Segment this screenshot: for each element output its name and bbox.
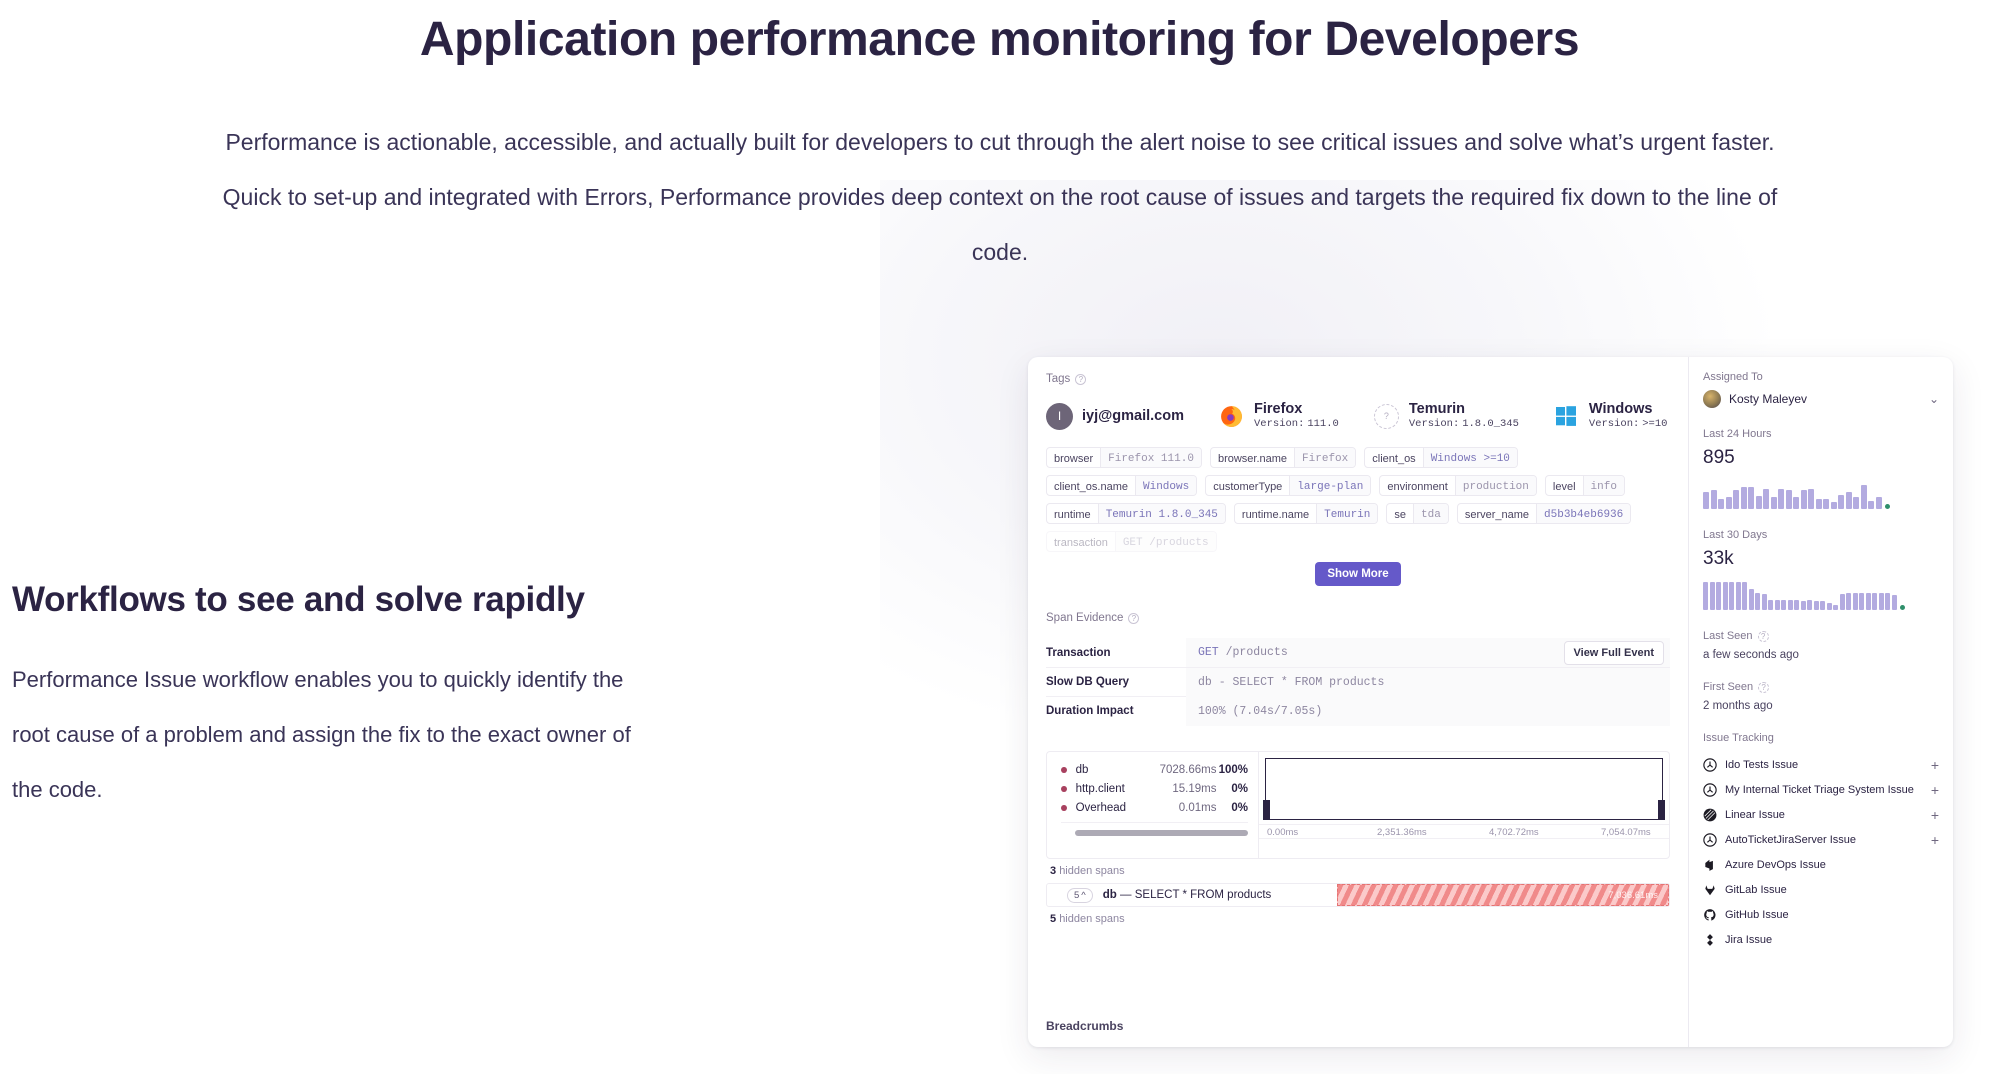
tag-value[interactable]: GET /products [1115,532,1216,551]
sparkline-bar [1872,593,1877,610]
tag-key: client_os.name [1047,476,1135,495]
issue-tracking-label: Issue Tracking [1703,732,1939,744]
sparkline-bar [1703,582,1708,611]
row-value: GET /products View Full Event [1186,638,1670,667]
sparkline-bar [1853,593,1858,610]
tag-owners-row: I iyj@gmail.com Firefox [1046,401,1670,431]
sparkline-bar [1807,600,1812,610]
tag-pill[interactable]: runtime.nameTemurin [1234,503,1378,524]
legend-scrollbar-row [1061,822,1248,842]
list-item[interactable]: GitLab Issue [1703,877,1939,902]
sparkline-bar [1762,594,1767,610]
page-title: Application performance monitoring for D… [0,10,1999,70]
owner-label: Windows [1589,401,1668,417]
owner-label: iyj@gmail.com [1082,408,1184,424]
sparkline-bar [1786,490,1792,509]
issue-tracking-block: Issue Tracking Ido Tests Issue + My Inte… [1703,732,1939,952]
list-item-label: Jira Issue [1725,934,1772,946]
sentry-ido-icon [1703,758,1717,772]
sparkline-bar [1763,489,1769,509]
assignee-name: Kosty Maleyev [1729,392,1921,406]
legend-dot-icon [1061,786,1067,792]
sparkline-bar [1748,487,1754,509]
legend-duration: 15.19ms [1153,783,1216,795]
owner-version: Version: 1.8.0_345 [1409,417,1519,431]
last-24-hours-label: Last 24 Hours [1703,428,1939,440]
span-desc: — SELECT * FROM products [1120,889,1271,901]
sparkline-bar [1742,582,1747,610]
show-more-row: Show More [1046,562,1670,586]
span-duration-bar: 7,036.61ms [1337,884,1669,906]
row-key: Transaction [1046,647,1186,659]
tag-value[interactable]: d5b3b4eb6936 [1536,504,1630,523]
row-value: 100% (7.04s/7.05s) [1186,697,1670,726]
feature-body: Performance Issue workflow enables you t… [12,652,652,817]
add-icon[interactable]: + [1931,833,1939,847]
row-value: db - SELECT * FROM products [1186,668,1670,697]
waterfall-start-cap [1263,800,1270,820]
chevron-up-icon: ^ [1081,890,1085,901]
tag-value[interactable]: Firefox [1294,448,1355,467]
autoticket-jira-icon [1703,833,1717,847]
sparkline-bar [1859,593,1864,610]
sparkline-bar [1838,495,1844,509]
row-value-text: 100% (7.04s/7.05s) [1198,705,1322,718]
list-item-label: My Internal Ticket Triage System Issue [1725,784,1914,796]
gitlab-icon [1703,883,1717,897]
span-evidence-label: Span Evidence ? [1046,612,1670,624]
row-value-text: SELECT * FROM products [1233,676,1385,689]
legend-label: http.client [1076,783,1154,795]
tags-label-text: Tags [1046,373,1070,385]
table-row: Slow DB Query db - SELECT * FROM product… [1046,667,1670,696]
sparkline-bar [1861,485,1867,509]
sparkline-bar [1801,601,1806,610]
span-row[interactable]: 5 ^ db — SELECT * FROM products 7,036.61… [1046,883,1670,907]
sparkline-bar [1794,600,1799,610]
sparkline-bar [1831,502,1837,509]
tag-key: browser [1047,448,1100,467]
sparkline-bar [1729,582,1734,611]
tag-value[interactable]: Temurin [1316,504,1377,523]
tag-pill[interactable]: transactionGET /products [1046,531,1217,552]
legend-item: Overhead 0.01ms 0% [1061,802,1248,814]
span-op: db [1103,889,1117,901]
sparkline-bar [1840,594,1845,610]
axis-tick: 4,702.72ms [1489,827,1601,838]
owner-version: Version: 111.0 [1254,417,1339,431]
sparkline-bar [1781,600,1786,610]
waterfall-plot: 0.00ms 2,351.36ms 4,702.72ms 7,054.07ms [1259,752,1669,858]
owner-runtime[interactable]: ? Temurin Version: 1.8.0_345 [1373,401,1519,431]
sparkline-bar [1885,593,1890,610]
tag-pill[interactable]: client_osWindows >=10 [1364,447,1518,468]
help-icon[interactable]: ? [1758,682,1769,693]
jira-icon [1703,933,1717,947]
add-icon[interactable]: + [1931,783,1939,797]
tag-key: level [1546,476,1583,495]
list-item[interactable]: Ido Tests Issue + [1703,752,1939,777]
list-item-label: Linear Issue [1725,809,1785,821]
tag-value[interactable]: production [1455,476,1536,495]
tag-pill[interactable]: browser.nameFirefox [1210,447,1356,468]
sparkline-bar [1710,582,1715,611]
legend-label: db [1076,764,1154,776]
page-root: Application performance monitoring for D… [0,0,1999,1074]
sparkline-bar [1827,603,1832,610]
last-24-hours-block: Last 24 Hours 895 [1703,428,1939,509]
tag-value[interactable]: Temurin 1.8.0_345 [1098,504,1225,523]
tag-pill[interactable]: levelinfo [1545,475,1625,496]
tag-key: server_name [1458,504,1536,523]
sparkline-bar [1711,490,1717,509]
firefox-icon [1218,403,1245,430]
db-prefix: db - [1198,676,1226,689]
tag-value[interactable]: large-plan [1289,476,1370,495]
tag-pill[interactable]: runtimeTemurin 1.8.0_345 [1046,503,1226,524]
last-24-hours-value: 895 [1703,447,1939,469]
windows-icon [1553,403,1580,430]
sparkline-bar [1868,501,1874,509]
tag-key: transaction [1047,532,1115,551]
tag-pill-list: browserFirefox 111.0 browser.nameFirefox… [1046,447,1670,552]
sparkline-bar [1816,499,1822,509]
hidden-spans-bottom-label: hidden spans [1059,913,1124,925]
sentry-triage-icon [1703,783,1717,797]
tag-pill[interactable]: setda [1386,503,1448,524]
show-more-button[interactable]: Show More [1315,562,1400,586]
legend-duration: 7028.66ms [1153,764,1216,776]
row-key: Slow DB Query [1046,676,1186,688]
tag-key: runtime.name [1235,504,1316,523]
axis-tick: 2,351.36ms [1377,827,1489,838]
assignee-row[interactable]: Kosty Maleyev ⌄ [1703,390,1939,408]
list-item[interactable]: My Internal Ticket Triage System Issue + [1703,777,1939,802]
list-item-label: AutoTicketJiraServer Issue [1725,834,1856,846]
card-side-panel: Assigned To Kosty Maleyev ⌄ Last 24 Hour… [1688,357,1953,1047]
tag-value[interactable]: info [1583,476,1624,495]
span-bar-label: 7,036.61ms [1608,890,1658,901]
list-item-label: Ido Tests Issue [1725,759,1798,771]
sparkline-bar [1801,490,1807,509]
sparkline-bar [1808,489,1814,509]
span-evidence-label-text: Span Evidence [1046,612,1123,624]
tag-pill[interactable]: client_os.nameWindows [1046,475,1197,496]
sparkline-bar [1718,499,1724,509]
owner-label: Firefox [1254,401,1339,417]
product-screenshot-card: Tags ? I iyj@gmail.com [1028,357,1953,1047]
waterfall-legend: db 7028.66ms 100% http.client 15.19ms 0%… [1047,752,1259,858]
sparkline-bar [1733,490,1739,509]
last-24-hours-sparkline[interactable] [1703,479,1939,509]
table-row: Duration Impact 100% (7.04s/7.05s) [1046,696,1670,725]
list-item-label: GitHub Issue [1725,909,1789,921]
add-icon[interactable]: + [1931,808,1939,822]
github-icon [1703,908,1717,922]
http-method: GET [1198,646,1219,659]
help-icon[interactable]: ? [1758,631,1769,642]
help-icon[interactable]: ? [1128,613,1139,624]
span-waterfall-chart: db 7028.66ms 100% http.client 15.19ms 0%… [1046,751,1670,859]
sparkline-bar [1775,600,1780,610]
tags-section-label: Tags ? [1046,373,1670,385]
hidden-spans-top[interactable]: 3 hidden spans [1046,859,1670,883]
sparkline-bar [1788,600,1793,610]
hidden-spans-bottom-count: 5 [1050,913,1056,925]
azure-devops-icon [1703,858,1717,872]
waterfall-end-cap [1658,800,1665,820]
live-indicator-dot [1900,605,1905,610]
owner-user[interactable]: I iyj@gmail.com [1046,403,1184,430]
sparkline-bar [1726,497,1732,509]
first-seen-value: 2 months ago [1703,700,1939,712]
sparkline-bar [1749,589,1754,610]
tag-key: runtime [1047,504,1098,523]
sparkline-bar [1823,499,1829,509]
sparkline-bar [1820,601,1825,610]
last-seen-value: a few seconds ago [1703,649,1939,661]
sparkline-bar [1741,487,1747,510]
legend-duration: 0.01ms [1153,802,1216,814]
first-seen-block: First Seen ? 2 months ago [1703,681,1939,712]
hidden-spans-bottom[interactable]: 5 hidden spans [1046,907,1670,931]
linear-icon [1703,808,1717,822]
owner-browser[interactable]: Firefox Version: 111.0 [1218,401,1339,431]
list-item[interactable]: GitHub Issue [1703,902,1939,927]
add-icon[interactable]: + [1931,758,1939,772]
view-full-event-button[interactable]: View Full Event [1564,641,1665,665]
last-30-days-value: 33k [1703,548,1939,570]
sparkline-bar [1866,593,1871,610]
tag-key: environment [1380,476,1455,495]
owner-os[interactable]: Windows Version: >=10 [1553,401,1668,431]
hidden-spans-top-count: 3 [1050,865,1056,877]
sparkline-bar [1778,489,1784,509]
live-indicator-dot [1885,504,1890,509]
list-item[interactable]: Azure DevOps Issue [1703,852,1939,877]
last-30-days-label: Last 30 Days [1703,529,1939,541]
span-collapse-chip[interactable]: 5 ^ [1067,888,1093,903]
first-seen-label: First Seen ? [1703,681,1939,693]
tag-value[interactable]: Windows >=10 [1423,448,1517,467]
last-seen-label: Last Seen ? [1703,630,1939,642]
tag-pill[interactable]: environmentproduction [1379,475,1537,496]
last-30-days-block: Last 30 Days 33k [1703,529,1939,610]
tag-value[interactable]: Firefox 111.0 [1100,448,1201,467]
tag-key: se [1387,504,1413,523]
axis-tick: 7,054.07ms [1601,827,1651,838]
card-main-column: Tags ? I iyj@gmail.com [1028,357,1688,1047]
sparkline-bar [1723,582,1728,611]
tag-key: customerType [1206,476,1289,495]
list-item[interactable]: Linear Issue + [1703,802,1939,827]
last-seen-block: Last Seen ? a few seconds ago [1703,630,1939,661]
legend-item: http.client 15.19ms 0% [1061,783,1248,795]
tag-key: browser.name [1211,448,1294,467]
help-icon[interactable]: ? [1075,374,1086,385]
sparkline-bar [1771,497,1777,509]
sparkline-bar [1716,582,1721,611]
legend-label: Overhead [1076,802,1154,814]
legend-dot-icon [1061,805,1067,811]
intro-paragraph: Performance is actionable, accessible, a… [195,115,1805,280]
sparkline-bar [1814,601,1819,610]
last-30-days-sparkline[interactable] [1703,580,1939,610]
row-key: Duration Impact [1046,705,1186,717]
legend-percent: 0% [1216,783,1248,795]
tag-pill[interactable]: server_named5b3b4eb6936 [1457,503,1631,524]
axis-tick: 0.00ms [1267,827,1377,838]
sparkline-bar [1736,582,1741,611]
list-item-label: GitLab Issue [1725,884,1787,896]
list-item[interactable]: AutoTicketJiraServer Issue + [1703,827,1939,852]
owner-label: Temurin [1409,401,1519,417]
sparkline-bar [1793,497,1799,509]
legend-dot-icon [1061,767,1067,773]
sparkline-bar [1846,593,1851,610]
hidden-spans-top-label: hidden spans [1059,865,1124,877]
span-chip-count: 5 [1074,890,1079,901]
row-value-text: /products [1226,646,1288,659]
tag-value[interactable]: tda [1413,504,1448,523]
tag-key: client_os [1365,448,1422,467]
legend-percent: 0% [1216,802,1248,814]
legend-percent: 100% [1216,764,1248,776]
issue-tracking-list: Ido Tests Issue + My Internal Ticket Tri… [1703,752,1939,952]
sparkline-bar [1833,605,1838,610]
waterfall-span-outline [1265,758,1663,820]
sparkline-bar [1756,496,1762,509]
tag-pill[interactable]: customerTypelarge-plan [1205,475,1371,496]
legend-item: db 7028.66ms 100% [1061,764,1248,776]
chevron-down-icon[interactable]: ⌄ [1929,392,1939,406]
sparkline-bar [1876,497,1882,509]
sparkline-bar [1768,600,1773,610]
sparkline-bar [1755,593,1760,610]
sparkline-bar [1879,593,1884,610]
owner-version: Version: >=10 [1589,417,1668,431]
sparkline-bar [1853,497,1859,509]
sparkline-bar [1892,595,1897,610]
span-evidence-table: Transaction GET /products View Full Even… [1046,638,1670,725]
avatar [1703,390,1721,408]
span-title: db — SELECT * FROM products [1103,889,1272,901]
assigned-to-label: Assigned To [1703,371,1939,383]
breadcrumbs-label: Breadcrumbs [1046,1019,1123,1033]
tag-pill[interactable]: browserFirefox 111.0 [1046,447,1202,468]
sparkline-bar [1846,492,1852,509]
list-item[interactable]: Jira Issue [1703,927,1939,952]
temurin-icon: ? [1373,403,1400,430]
table-row: Transaction GET /products View Full Even… [1046,638,1670,667]
tag-value[interactable]: Windows [1135,476,1196,495]
horizontal-scrollbar[interactable] [1075,830,1248,836]
avatar-icon: I [1046,403,1073,430]
chart-scroll-row [1259,838,1669,858]
feature-title: Workflows to see and solve rapidly [12,578,772,622]
list-item-label: Azure DevOps Issue [1725,859,1826,871]
sparkline-bar [1703,492,1709,509]
